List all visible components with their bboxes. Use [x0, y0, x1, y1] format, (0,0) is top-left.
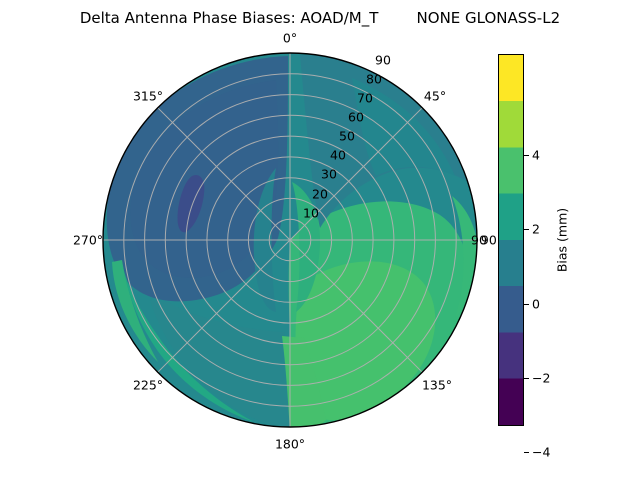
- colorbar-gradient: [498, 54, 524, 426]
- polar-plot: 0° 45° 90° 135° 180° 225° 270° 315° 10 2…: [0, 0, 640, 480]
- radial-label-60: 60: [348, 110, 364, 125]
- radial-label-80: 80: [366, 72, 382, 87]
- radial-edge-label-90: 90: [471, 233, 487, 248]
- angular-label-270: 270°: [73, 233, 103, 248]
- colorbar-ticklabel-4: 4: [532, 147, 540, 162]
- radial-label-50: 50: [339, 129, 355, 144]
- radial-label-20: 20: [312, 187, 328, 202]
- angular-label-135: 135°: [422, 378, 452, 393]
- polar-grid: [103, 53, 477, 427]
- colorbar-tick-m4: [524, 452, 529, 453]
- angular-label-0: 0°: [283, 31, 297, 46]
- colorbar-tick-0: [524, 304, 529, 305]
- angular-label-315: 315°: [133, 89, 163, 104]
- colorbar-axis-label: Bias (mm): [555, 208, 570, 272]
- colorbar-tick-4: [524, 155, 529, 156]
- angular-label-180: 180°: [275, 437, 305, 452]
- colorbar-ticklabel-2: 2: [532, 222, 540, 237]
- radial-label-90: 90: [375, 53, 391, 68]
- radial-label-30: 30: [321, 167, 337, 182]
- angular-label-45: 45°: [424, 89, 446, 104]
- colorbar-ticklabel-0: 0: [532, 296, 540, 311]
- colorbar-ticklabel-m4: −4: [532, 445, 550, 460]
- radial-label-40: 40: [330, 148, 346, 163]
- colorbar-tick-m2: [524, 378, 529, 379]
- colorbar-ticklabel-m2: −2: [532, 371, 550, 386]
- radial-label-70: 70: [357, 91, 373, 106]
- colorbar-tick-2: [524, 229, 529, 230]
- figure-canvas: Delta Antenna Phase Biases: AOAD/M_T NON…: [0, 0, 640, 480]
- radial-label-10: 10: [303, 206, 319, 221]
- angular-label-225: 225°: [133, 378, 163, 393]
- colorbar: 4 2 0 −2 −4: [498, 54, 524, 426]
